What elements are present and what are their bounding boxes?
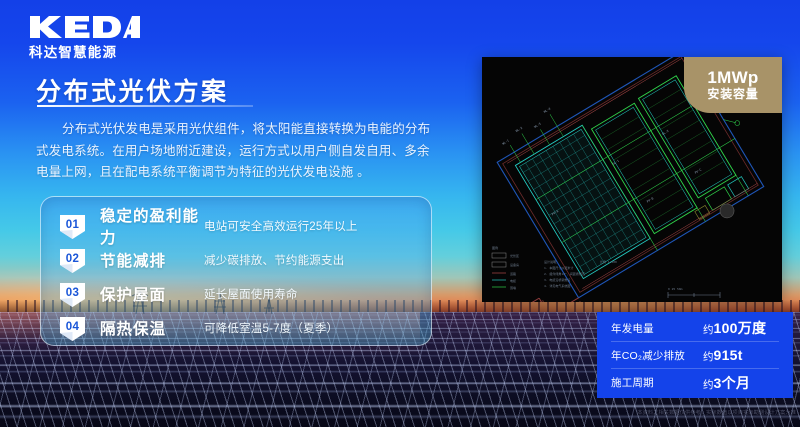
svg-text:1. 本图尺寸以毫米计: 1. 本图尺寸以毫米计 xyxy=(544,265,573,270)
stat-row: 施工周期 约3个月 xyxy=(611,369,779,396)
feature-item[interactable]: 04 隔热保温 可降低室温5-7度（夏季） xyxy=(59,311,431,345)
stat-value: 约3个月 xyxy=(703,373,750,393)
stat-number: 100万度 xyxy=(714,320,767,336)
stat-value: 约100万度 xyxy=(703,318,766,338)
feature-number: 03 xyxy=(66,287,79,299)
stat-number: 3个月 xyxy=(714,375,751,391)
feature-item[interactable]: 02 节能减排 减少碳排放、节约能源支出 xyxy=(59,243,431,277)
feature-item[interactable]: 03 保护屋面 延长屋面使用寿命 xyxy=(59,277,431,311)
feature-number: 01 xyxy=(66,219,79,231)
shield-number-icon: 03 xyxy=(59,282,86,307)
brand-name-cn: 科达智慧能源 xyxy=(28,41,188,61)
stat-label: 施工周期 xyxy=(611,375,703,390)
keda-wordmark-icon xyxy=(28,14,140,40)
stats-panel: 年发电量 约100万度 年CO₂减少排放 约915t 施工周期 约3个月 xyxy=(597,312,793,398)
stat-label: 年CO₂减少排放 xyxy=(611,348,703,363)
svg-text:0 25 50m: 0 25 50m xyxy=(668,287,683,291)
stat-label: 年发电量 xyxy=(611,321,703,336)
intro-paragraph: 分布式光伏发电是采用光伏组件，将太阳能直接转换为电能的分布式发电系统。在用户场地… xyxy=(36,119,441,184)
feature-number: 04 xyxy=(66,321,79,333)
title-underline xyxy=(37,105,253,107)
site-plan-cad-drawing[interactable]: WL-1WL-2 WL-3WL-4 GL-1GL-2 PV-APV-B PV-C… xyxy=(482,57,782,302)
svg-text:设计说明：: 设计说明： xyxy=(544,259,559,264)
svg-text:4. 详见电气系统图: 4. 详见电气系统图 xyxy=(544,283,570,288)
footnote-disclaimer: 本资料之相关数据仅供参考，实际数值以项目实际勘测设计方案为准 xyxy=(576,409,796,416)
svg-text:图例: 图例 xyxy=(492,245,498,250)
capacity-badge: 1MWp 安装容量 xyxy=(684,57,782,113)
feature-description: 延长屋面使用寿命 xyxy=(204,286,298,302)
svg-text:2. 组件倾角10°，间距按规范: 2. 组件倾角10°，间距按规范 xyxy=(544,271,585,276)
feature-list-panel: 01 稳定的盈利能力 电站可安全高效运行25年以上 02 节能减排 减少碳排放、… xyxy=(40,196,432,346)
slide-canvas: 科达智慧能源 分布式光伏方案 分布式光伏发电是采用光伏组件，将太阳能直接转换为电… xyxy=(0,0,800,427)
svg-text:光伏区: 光伏区 xyxy=(510,253,519,258)
shield-number-icon: 04 xyxy=(59,316,86,341)
svg-text:围墙: 围墙 xyxy=(510,285,516,290)
capacity-value: 1MWp xyxy=(707,68,758,87)
stat-number: 915t xyxy=(714,347,743,363)
shield-number-icon: 01 xyxy=(59,214,86,239)
svg-text:电缆: 电缆 xyxy=(510,278,516,283)
feature-description: 电站可安全高效运行25年以上 xyxy=(204,218,358,234)
svg-text:道路: 道路 xyxy=(510,271,516,276)
svg-text:比例 1:500: 比例 1:500 xyxy=(600,259,617,264)
shield-number-icon: 02 xyxy=(59,248,86,273)
svg-text:设备房: 设备房 xyxy=(510,262,519,267)
svg-text:3. 电缆沿桥架敷设: 3. 电缆沿桥架敷设 xyxy=(544,277,570,282)
feature-title: 稳定的盈利能力 xyxy=(100,204,204,248)
page-title: 分布式光伏方案 xyxy=(36,72,229,108)
feature-title: 保护屋面 xyxy=(100,283,204,305)
brand-logo: 科达智慧能源 xyxy=(28,14,188,61)
feature-description: 减少碳排放、节约能源支出 xyxy=(204,252,344,268)
capacity-label: 安装容量 xyxy=(707,87,758,102)
stat-value: 约915t xyxy=(703,347,743,364)
feature-title: 隔热保温 xyxy=(100,317,204,339)
feature-title: 节能减排 xyxy=(100,249,204,271)
feature-description: 可降低室温5-7度（夏季） xyxy=(204,320,338,336)
stat-row: 年CO₂减少排放 约915t xyxy=(611,342,779,369)
feature-number: 02 xyxy=(66,253,79,265)
feature-item[interactable]: 01 稳定的盈利能力 电站可安全高效运行25年以上 xyxy=(59,209,431,243)
stat-row: 年发电量 约100万度 xyxy=(611,315,779,342)
